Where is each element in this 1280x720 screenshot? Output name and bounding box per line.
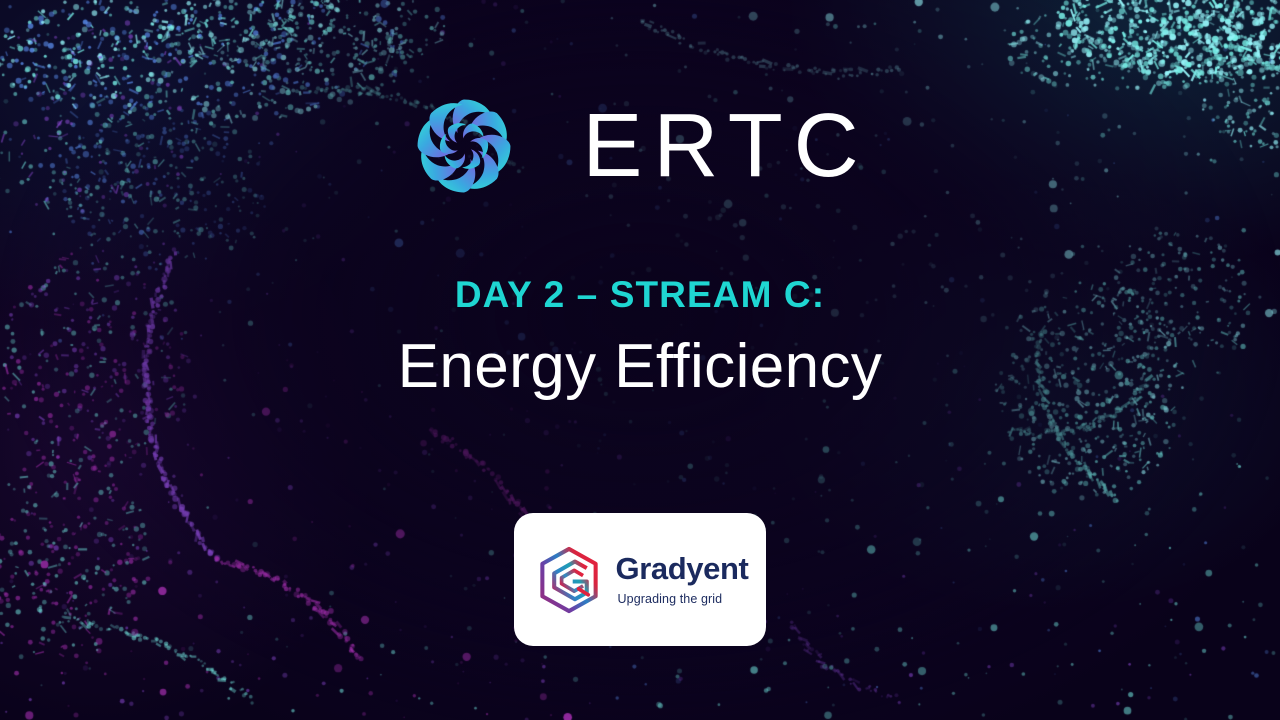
gradyent-hex-g-icon: [532, 543, 606, 617]
sponsor-tagline: Upgrading the grid: [616, 593, 723, 606]
sponsor-name: Gradyent: [616, 553, 749, 584]
sponsor-card: Gradyent Upgrading the grid: [514, 513, 766, 646]
session-title: Energy Efficiency: [398, 334, 883, 399]
session-eyebrow: DAY 2 – STREAM C:: [455, 276, 825, 313]
brand-lockup: ERTC: [410, 92, 869, 200]
ertc-swirl-icon: [410, 92, 518, 200]
slide-root: ERTC DAY 2 – STREAM C: Energy Efficiency: [0, 0, 1280, 720]
sponsor-text-block: Gradyent Upgrading the grid: [616, 553, 749, 606]
brand-name: ERTC: [576, 101, 869, 191]
